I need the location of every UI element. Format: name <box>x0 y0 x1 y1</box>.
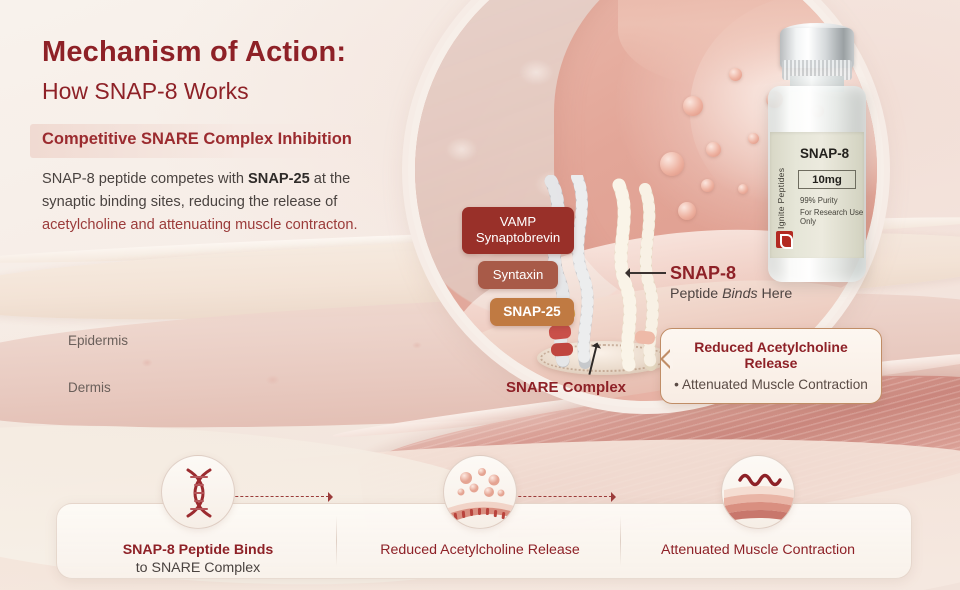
process-step-1[interactable]: SNAP-8 Peptide Binds to SNARE Complex <box>73 455 323 576</box>
flow-arrow-head-icon <box>328 492 338 502</box>
page-title: Mechanism of Action: <box>42 36 346 69</box>
callout-heading: Reduced Acetylcholine Release <box>673 339 869 371</box>
badge-vamp-line2: Synaptobrevin <box>468 230 568 246</box>
label-snare-complex: SNARE Complex <box>506 379 626 396</box>
body-line3: acetylcholine and attenuating muscle con… <box>42 217 358 233</box>
badge-syntaxin: Syntaxin <box>478 261 558 289</box>
label-dermis: Dermis <box>68 380 111 395</box>
process-step-2[interactable]: Reduced Acetylcholine Release <box>355 455 605 560</box>
result-callout-box: Reduced Acetylcholine Release • Attenuat… <box>660 328 882 404</box>
vesicle <box>748 133 759 144</box>
step-3-line1: Attenuated Muscle Contraction <box>633 542 883 558</box>
badge-vamp-line1: VAMP <box>468 214 568 230</box>
snap8-sub-pre: Peptide <box>670 286 722 302</box>
snap8-callout-subtitle: Peptide Binds Here <box>670 286 792 302</box>
dna-helix-icon <box>161 455 235 529</box>
snap8-callout-title: SNAP-8 <box>670 263 736 284</box>
process-divider <box>620 516 621 566</box>
vial-label: Ignite Peptides SNAP-8 10mg 99% Purity F… <box>770 132 864 258</box>
snap8-sub-post: Here <box>758 286 793 302</box>
body-paragraph: SNAP-8 peptide competes with SNAP-25 at … <box>42 168 388 237</box>
flow-arrow-head-icon <box>611 492 621 502</box>
process-step-3[interactable]: Attenuated Muscle Contraction <box>633 455 883 560</box>
vial-product-name: SNAP-8 <box>800 146 849 161</box>
snap8-sub-italic: Binds <box>722 286 758 302</box>
vial-dose: 10mg <box>812 174 842 186</box>
body-line1-pre: SNAP-8 peptide competes with <box>42 171 248 187</box>
infographic-canvas: Ignite Peptides SNAP-8 10mg 99% Purity F… <box>0 0 960 590</box>
section-heading: Competitive SNARE Complex Inhibition <box>42 130 352 149</box>
vesicle <box>660 152 684 176</box>
step-1-line2: to SNARE Complex <box>73 560 323 576</box>
step-2-line1: Reduced Acetylcholine Release <box>355 542 605 558</box>
body-line1-post: at the <box>310 171 351 187</box>
callout-bullet: • Attenuated Muscle Contraction <box>673 377 869 392</box>
label-epidermis: Epidermis <box>68 333 128 348</box>
badge-vamp-synaptobrevin: VAMP Synaptobrevin <box>462 207 574 254</box>
snap8-pointer-arrow <box>628 272 666 274</box>
vial-purity: 99% Purity <box>800 196 838 205</box>
step-1-line1: SNAP-8 Peptide Binds <box>73 542 323 558</box>
vesicle-release-icon <box>443 455 517 529</box>
page-subtitle: How SNAP-8 Works <box>42 78 249 105</box>
ignite-peptides-logo-icon <box>776 231 793 248</box>
muscle-relax-icon <box>721 455 795 529</box>
body-line2: synaptic binding sites, reducing the rel… <box>42 194 337 210</box>
body-line1-bold: SNAP-25 <box>248 171 310 187</box>
product-vial: Ignite Peptides SNAP-8 10mg 99% Purity F… <box>760 28 872 290</box>
vesicle <box>683 96 703 116</box>
process-divider <box>336 516 337 566</box>
vial-research-use: For Research Use Only <box>800 208 864 226</box>
badge-snap25: SNAP-25 <box>490 298 574 326</box>
vial-dose-box: 10mg <box>798 170 856 189</box>
